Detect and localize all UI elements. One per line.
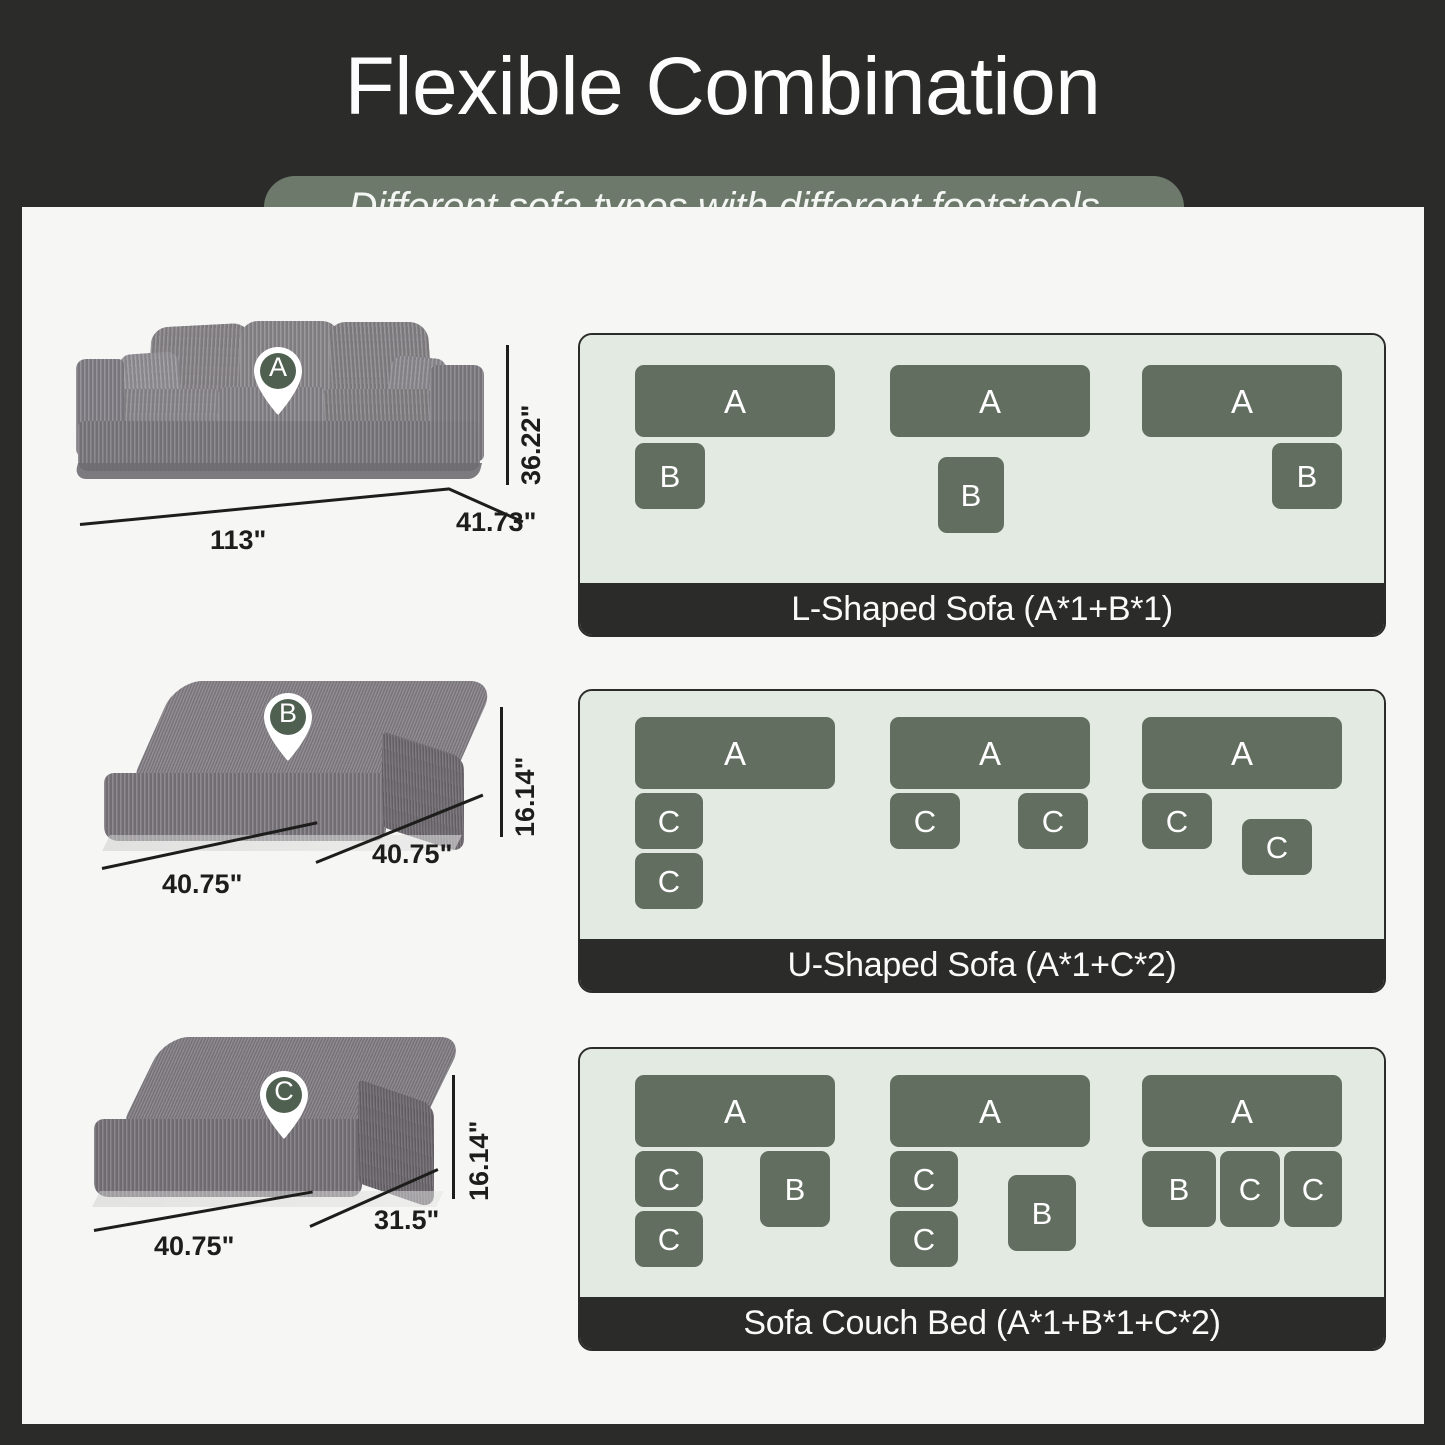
dim-line-height-c	[452, 1075, 455, 1199]
card-body: ABABAB	[580, 335, 1384, 583]
card-label: L-Shaped Sofa (A*1+B*1)	[791, 590, 1173, 629]
card-body: ACCACCACC	[580, 691, 1384, 939]
config-1: ACCACCACC	[580, 691, 1384, 939]
card-body: ACCBACCBABCC	[580, 1049, 1384, 1297]
module-block-c: C	[890, 793, 960, 849]
card-label: U-Shaped Sofa (A*1+C*2)	[787, 946, 1176, 985]
combination-card-sofa-couch-bed[interactable]: ACCBACCBABCC Sofa Couch Bed (A*1+B*1+C*2…	[578, 1047, 1386, 1351]
card-footer: Sofa Couch Bed (A*1+B*1+C*2)	[580, 1297, 1384, 1349]
content-panel: A 113" 41.73" 36.22"	[22, 207, 1424, 1424]
module-block-a: A	[1142, 717, 1342, 789]
card-footer: U-Shaped Sofa (A*1+C*2)	[580, 939, 1384, 991]
module-block-c: C	[1142, 793, 1212, 849]
module-block-c: C	[1284, 1151, 1342, 1227]
dim-line-height-a	[506, 345, 509, 485]
module-block-a: A	[890, 717, 1090, 789]
dim-height-a: 36.22"	[516, 405, 547, 485]
module-block-c: C	[635, 1211, 703, 1267]
module-block-c: C	[1242, 819, 1312, 875]
product-b: B 40.75" 40.75" 16.14"	[52, 677, 572, 907]
module-block-a: A	[1142, 365, 1342, 437]
marker-pin-b: B	[260, 691, 316, 763]
module-block-a: A	[635, 717, 835, 789]
module-block-b: B	[938, 457, 1004, 533]
card-footer: L-Shaped Sofa (A*1+B*1)	[580, 583, 1384, 635]
product-a: A 113" 41.73" 36.22"	[52, 317, 572, 547]
combination-card-l-shaped[interactable]: ABABAB L-Shaped Sofa (A*1+B*1)	[578, 333, 1386, 637]
dim-depth-b: 40.75"	[372, 839, 452, 870]
module-block-c: C	[890, 1211, 958, 1267]
dim-line-height-b	[500, 707, 503, 837]
module-block-b: B	[1142, 1151, 1216, 1227]
module-block-b: B	[1272, 443, 1342, 509]
dim-width-b: 40.75"	[162, 869, 242, 900]
dim-height-c: 16.14"	[464, 1121, 495, 1201]
config-1: ABABAB	[580, 335, 1384, 583]
product-c: C 40.75" 31.5" 16.14"	[52, 1027, 572, 1267]
module-block-c: C	[635, 1151, 703, 1207]
sofa-illustration: A	[72, 317, 492, 507]
header: Flexible Combination Different sofa type…	[0, 0, 1445, 207]
dim-width-c: 40.75"	[154, 1231, 234, 1262]
module-block-c: C	[1220, 1151, 1280, 1227]
module-block-b: B	[635, 443, 705, 509]
module-block-a: A	[890, 1075, 1090, 1147]
module-block-c: C	[635, 793, 703, 849]
marker-pin-c: C	[256, 1069, 312, 1141]
dim-height-b: 16.14"	[510, 757, 541, 837]
module-block-c: C	[890, 1151, 958, 1207]
module-block-a: A	[635, 365, 835, 437]
card-label: Sofa Couch Bed (A*1+B*1+C*2)	[743, 1304, 1220, 1343]
module-block-c: C	[1018, 793, 1088, 849]
module-block-b: B	[760, 1151, 830, 1227]
module-block-c: C	[635, 853, 703, 909]
config-1: ACCBACCBABCC	[580, 1049, 1384, 1297]
module-block-a: A	[635, 1075, 835, 1147]
module-block-a: A	[1142, 1075, 1342, 1147]
dim-depth-c: 31.5"	[374, 1205, 439, 1236]
module-block-a: A	[890, 365, 1090, 437]
module-block-b: B	[1008, 1175, 1076, 1251]
dim-depth-a: 41.73"	[456, 507, 536, 538]
marker-pin-a: A	[250, 345, 306, 417]
combination-card-u-shaped[interactable]: ACCACCACC U-Shaped Sofa (A*1+C*2)	[578, 689, 1386, 993]
page-title: Flexible Combination	[0, 46, 1445, 128]
dim-width-a: 113"	[210, 525, 266, 556]
outer-frame: Flexible Combination Different sofa type…	[0, 0, 1445, 1445]
